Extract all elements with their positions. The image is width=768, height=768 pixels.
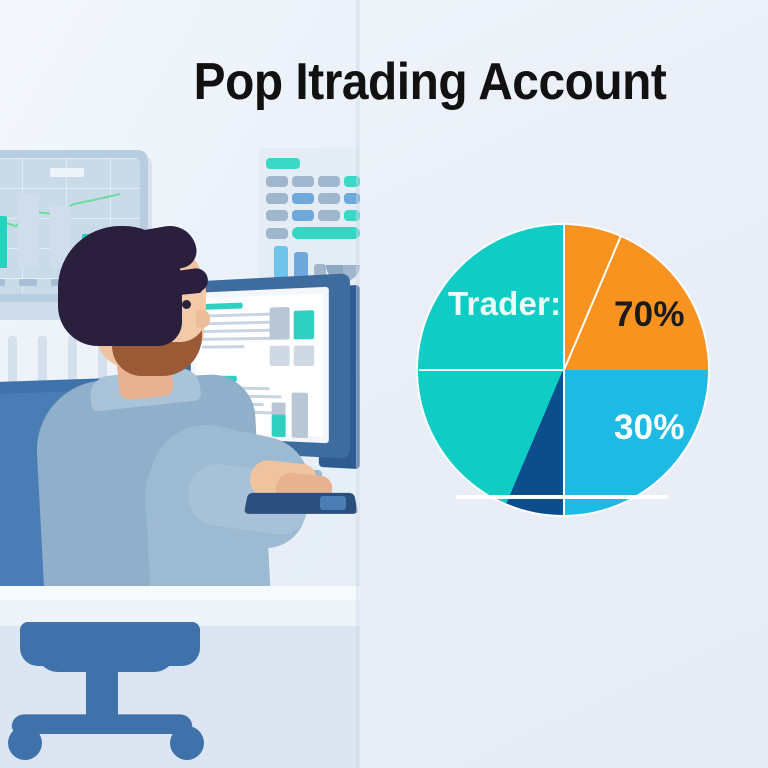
screenshot-root: Trader: 70% 30% Pop Itrading Account [0, 0, 768, 768]
wall-chart-tag [50, 168, 84, 177]
pie-label-70-percent: 70% [614, 295, 685, 335]
person-nose [196, 310, 210, 328]
office-chair-caster-right [170, 726, 204, 760]
office-chair-caster-left [8, 726, 42, 760]
pie-separator-90 [419, 369, 564, 371]
pie-chart: Trader: 70% 30% [418, 225, 708, 515]
person-eye [182, 300, 191, 309]
pie-label-trader: Trader: [448, 285, 561, 323]
panel-seam [356, 0, 360, 768]
pie-separator-180 [563, 225, 565, 370]
wall-dashboard-panel [258, 148, 360, 290]
keyboard-key [320, 496, 346, 510]
page-title: Pop Itrading Account [31, 52, 738, 112]
trader-illustration [0, 0, 360, 768]
pie-baseline-rule [456, 495, 668, 499]
pie-label-30-percent: 30% [614, 408, 685, 448]
pie-separator-0 [563, 370, 565, 515]
